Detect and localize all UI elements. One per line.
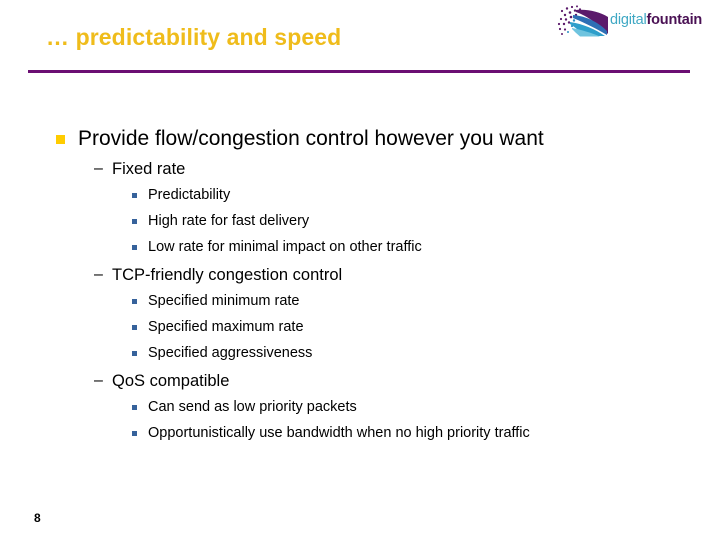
bullet-small-square-icon [132, 299, 148, 304]
bullet-text: Opportunistically use bandwidth when no … [148, 423, 530, 444]
bullet-text: Low rate for minimal impact on other tra… [148, 237, 422, 258]
bullet-small-square-icon [132, 431, 148, 436]
bullet-dash-icon: – [94, 158, 112, 180]
brand-wordmark-digital: digital [610, 12, 647, 28]
bullet-text: Provide flow/congestion control however … [78, 126, 544, 152]
brand-wordmark: digitalfountain [610, 13, 702, 28]
bullet-item-level3: Specified minimum rate [0, 291, 719, 312]
page-title: … predictability and speed [46, 24, 341, 51]
bullet-square-glyph [56, 135, 65, 144]
slide-header: … predictability and speed [0, 0, 719, 76]
bullet-small-square-icon [132, 193, 148, 198]
brand-logo: digitalfountain [556, 4, 714, 40]
bullet-small-square-icon [132, 351, 148, 356]
bullet-small-square-glyph [132, 245, 137, 250]
bullet-dash-icon: – [94, 370, 112, 392]
bullet-text: Specified aggressiveness [148, 343, 312, 364]
bullet-small-square-glyph [132, 219, 137, 224]
bullet-item-level1: Provide flow/congestion control however … [0, 126, 719, 152]
bullet-item-level2: –TCP-friendly congestion control [0, 264, 719, 286]
bullet-small-square-glyph [132, 431, 137, 436]
bullet-text: QoS compatible [112, 370, 229, 392]
bullet-small-square-glyph [132, 351, 137, 356]
bullet-list: Provide flow/congestion control however … [0, 126, 719, 445]
bullet-small-square-glyph [132, 193, 137, 198]
bullet-item-level3: Low rate for minimal impact on other tra… [0, 237, 719, 258]
bullet-small-square-icon [132, 219, 148, 224]
bullet-text: Specified minimum rate [148, 291, 300, 312]
bullet-text: High rate for fast delivery [148, 211, 309, 232]
page-number: 8 [34, 511, 41, 525]
bullet-small-square-icon [132, 405, 148, 410]
bullet-small-square-icon [132, 245, 148, 250]
digital-fountain-swoosh-icon [556, 4, 616, 40]
bullet-small-square-glyph [132, 299, 137, 304]
bullet-item-level3: Specified aggressiveness [0, 343, 719, 364]
title-divider [28, 70, 690, 73]
bullet-text: Predictability [148, 185, 230, 206]
bullet-item-level3: High rate for fast delivery [0, 211, 719, 232]
bullet-item-level2: –QoS compatible [0, 370, 719, 392]
bullet-text: Fixed rate [112, 158, 185, 180]
bullet-item-level3: Predictability [0, 185, 719, 206]
bullet-small-square-icon [132, 325, 148, 330]
bullet-small-square-glyph [132, 405, 137, 410]
bullet-item-level2: –Fixed rate [0, 158, 719, 180]
bullet-item-level3: Can send as low priority packets [0, 397, 719, 418]
bullet-item-level3: Opportunistically use bandwidth when no … [0, 423, 719, 444]
brand-wordmark-fountain: fountain [647, 12, 703, 28]
bullet-dash-icon: – [94, 264, 112, 286]
bullet-square-icon [56, 135, 78, 144]
bullet-small-square-glyph [132, 325, 137, 330]
bullet-text: Specified maximum rate [148, 317, 304, 338]
bullet-text: Can send as low priority packets [148, 397, 357, 418]
bullet-item-level3: Specified maximum rate [0, 317, 719, 338]
bullet-text: TCP-friendly congestion control [112, 264, 342, 286]
